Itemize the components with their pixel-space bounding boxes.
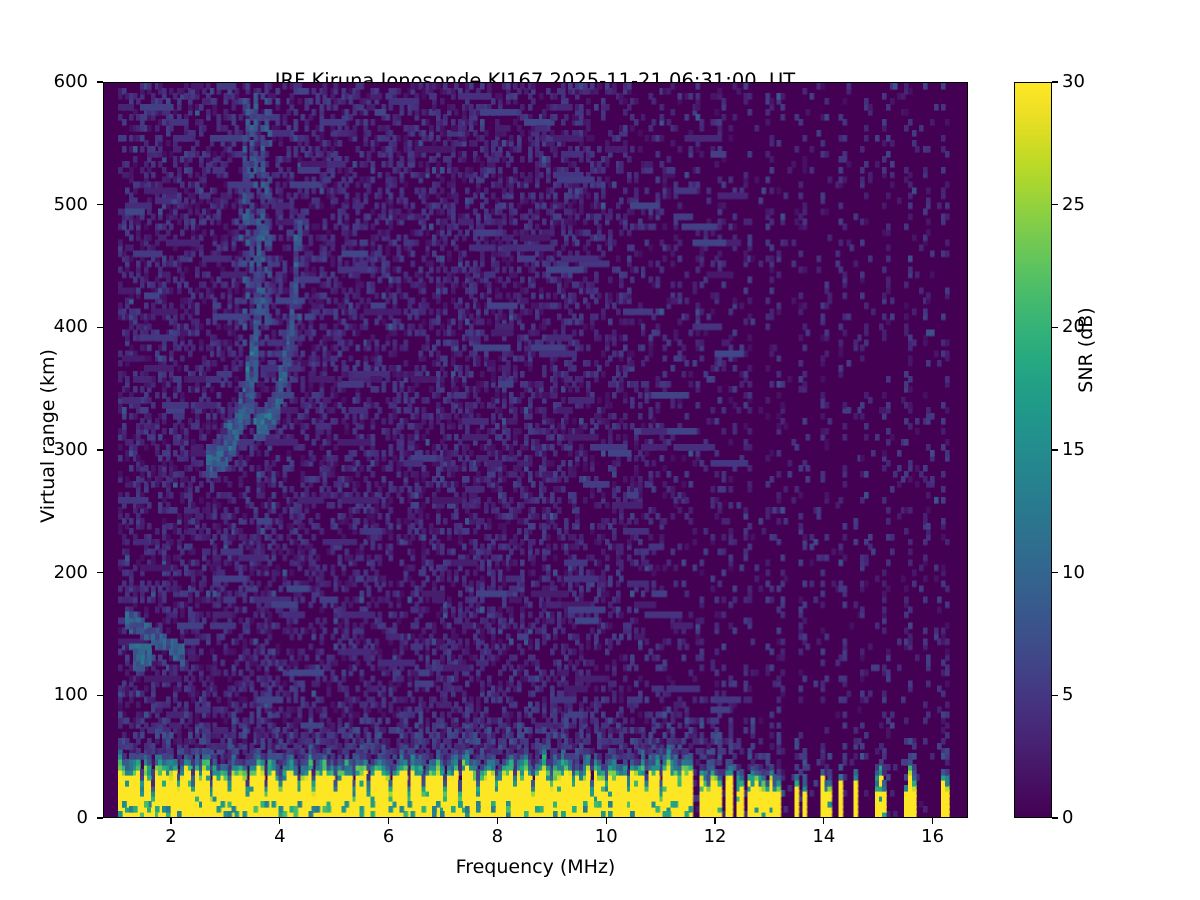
colorbar-tick-label: 0: [1062, 809, 1073, 827]
colorbar-tick-mark: [1052, 449, 1058, 450]
colorbar-label: SNR (dB): [1075, 250, 1097, 450]
y-tick-label: 200: [54, 564, 88, 582]
colorbar-tick-mark: [1052, 81, 1058, 82]
x-tick-mark: [170, 818, 171, 824]
colorbar-gradient: [1014, 82, 1052, 818]
x-tick-label: 2: [165, 828, 176, 846]
y-tick-label: 100: [54, 686, 88, 704]
colorbar-tick-mark: [1052, 572, 1058, 573]
y-tick-mark: [97, 81, 103, 82]
y-tick-mark: [97, 572, 103, 573]
y-tick-mark: [97, 204, 103, 205]
y-tick-label: 0: [77, 809, 88, 827]
x-tick-label: 14: [812, 828, 835, 846]
x-tick-mark: [279, 818, 280, 824]
colorbar-tick-label: 30: [1062, 73, 1085, 91]
y-axis-label: Virtual range (km): [37, 316, 59, 556]
x-tick-label: 10: [595, 828, 618, 846]
x-tick-label: 4: [274, 828, 285, 846]
colorbar-tick-mark: [1052, 204, 1058, 205]
colorbar-tick-mark: [1052, 327, 1058, 328]
colorbar-tick-label: 5: [1062, 686, 1073, 704]
heatmap-plot-area: [103, 82, 968, 818]
y-tick-label: 500: [54, 196, 88, 214]
colorbar-tick-label: 25: [1062, 196, 1085, 214]
colorbar-tick-label: 10: [1062, 564, 1085, 582]
y-tick-label: 600: [54, 73, 88, 91]
y-tick-mark: [97, 327, 103, 328]
x-tick-mark: [388, 818, 389, 824]
x-tick-mark: [823, 818, 824, 824]
x-tick-label: 12: [704, 828, 727, 846]
x-tick-label: 8: [492, 828, 503, 846]
x-tick-mark: [606, 818, 607, 824]
colorbar-tick-mark: [1052, 817, 1058, 818]
ionogram-heatmap: [104, 83, 967, 817]
ionogram-figure: IRF Kiruna Ionosonde KI167 2025-11-21 06…: [0, 0, 1200, 900]
x-tick-mark: [714, 818, 715, 824]
colorbar: [1014, 82, 1052, 818]
y-tick-mark: [97, 817, 103, 818]
x-tick-label: 16: [921, 828, 944, 846]
x-tick-mark: [497, 818, 498, 824]
y-tick-mark: [97, 695, 103, 696]
x-tick-label: 6: [383, 828, 394, 846]
colorbar-tick-mark: [1052, 695, 1058, 696]
y-tick-mark: [97, 449, 103, 450]
x-tick-mark: [932, 818, 933, 824]
x-axis-label: Frequency (MHz): [103, 856, 968, 878]
